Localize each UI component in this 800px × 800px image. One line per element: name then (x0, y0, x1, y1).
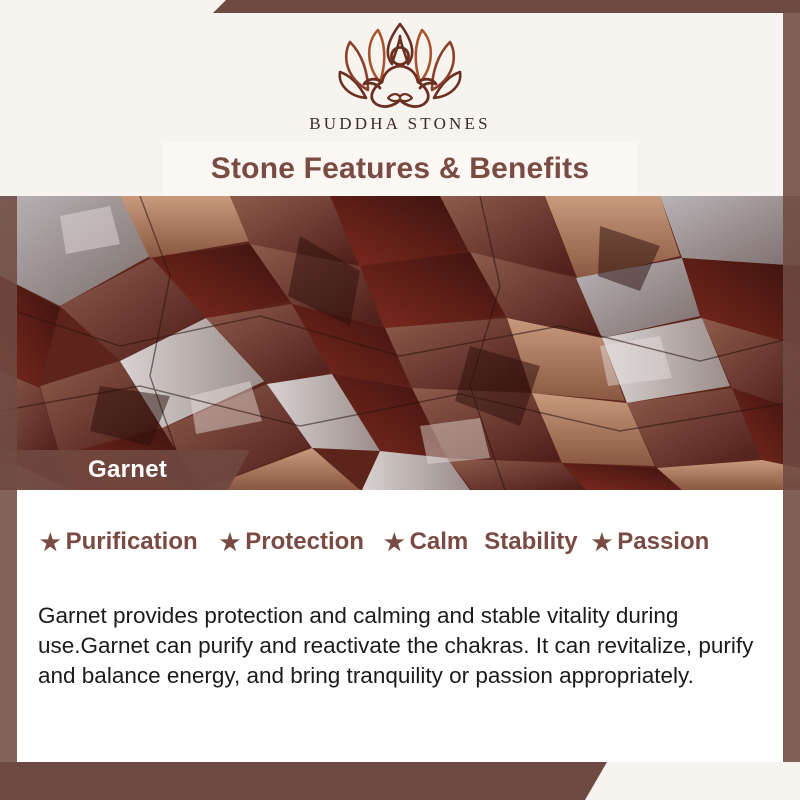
frame-bar-top (213, 0, 800, 13)
stone-name-chip: Garnet (0, 450, 250, 490)
page-title: Stone Features & Benefits (211, 152, 589, 186)
star-icon: ★ (40, 531, 61, 554)
benefit-label: Calm (410, 528, 469, 556)
frame-bar-right (783, 0, 800, 762)
benefit-item: ★ Purification (40, 528, 198, 556)
star-icon: ★ (592, 531, 613, 554)
star-icon: ★ (384, 531, 405, 554)
benefits-row: ★ Purification ★ Protection ★ Calm Stabi… (40, 528, 764, 556)
frame-bar-left (0, 196, 17, 800)
star-icon: ★ (220, 531, 241, 554)
benefit-label: Passion (617, 528, 709, 556)
stone-description: Garnet provides protection and calming a… (38, 601, 760, 691)
benefit-label: Stability (484, 528, 577, 556)
benefit-item: Stability (484, 528, 577, 556)
poster-root: BUDDHA STONES Stone Features & Benefits … (0, 0, 800, 800)
brand-logo: BUDDHA STONES (0, 20, 800, 134)
garnet-photo (0, 196, 800, 490)
benefit-item: ★ Passion (592, 528, 710, 556)
benefit-item: ★ Calm (384, 528, 468, 556)
title-banner: Stone Features & Benefits (163, 142, 637, 196)
stone-name: Garnet (88, 456, 167, 484)
lotus-meditation-icon (320, 20, 480, 112)
benefit-label: Purification (66, 528, 198, 556)
benefit-label: Protection (245, 528, 364, 556)
garnet-photo-art (0, 196, 800, 490)
brand-name: BUDDHA STONES (0, 114, 800, 134)
benefit-item: ★ Protection (220, 528, 364, 556)
frame-bar-bottom (0, 762, 607, 800)
